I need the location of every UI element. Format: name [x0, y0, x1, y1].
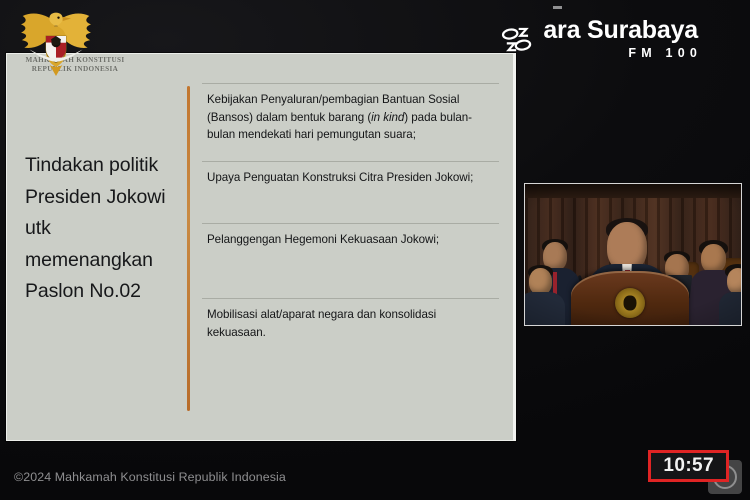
broadcast-frame: MAHKAMAH KONSTITUSI REPUBLIK INDONESIA T… [0, 0, 750, 500]
slide-title: Tindakan politik Presiden Jokowi utk mem… [25, 150, 183, 308]
timer-box: 10:57 [648, 450, 729, 482]
video-scene [525, 184, 741, 325]
suara-surabaya-mark-icon [500, 23, 534, 57]
bullet-list: Kebijakan Penyaluran/pembagian Bantuan S… [201, 83, 499, 341]
courtroom-live-feed[interactable] [524, 183, 742, 326]
presentation-slide: MAHKAMAH KONSTITUSI REPUBLIK INDONESIA T… [6, 53, 516, 441]
accent-vertical-rule [187, 86, 190, 411]
station-logo: ara Surabaya FM 100 [500, 18, 698, 60]
bullet-text-before: Mobilisasi alat/aparat negara dan konsol… [207, 308, 436, 339]
list-item: Pelanggengan Hegemoni Kekuasaan Jokowi; [201, 223, 499, 249]
bullet-emphasis: in kind [371, 111, 404, 124]
bullet-text-mobilisasi-aparat: Mobilisasi alat/aparat negara dan konsol… [201, 299, 499, 341]
station-logo-text: ara Surabaya FM 100 [543, 18, 698, 60]
list-item: Kebijakan Penyaluran/pembagian Bantuan S… [201, 83, 499, 144]
station-subtitle: FM 100 [628, 47, 702, 60]
logo-tick-mark [553, 6, 562, 9]
bullet-text-citra-presiden: Upaya Penguatan Konstruksi Citra Preside… [201, 162, 499, 187]
copyright-notice: ©2024 Mahkamah Konstitusi Republik Indon… [14, 470, 286, 484]
bullet-text-before: Upaya Penguatan Konstruksi Citra Preside… [207, 171, 473, 184]
bullet-text-hegemoni-kekuasaan: Pelanggengan Hegemoni Kekuasaan Jokowi; [201, 224, 499, 249]
timer-value: 10:57 [663, 456, 714, 475]
garuda-pancasila-emblem [14, 6, 98, 76]
station-name: ara Surabaya [543, 18, 698, 43]
vignette [525, 184, 741, 325]
list-item: Mobilisasi alat/aparat negara dan konsol… [201, 298, 499, 341]
list-item: Upaya Penguatan Konstruksi Citra Preside… [201, 161, 499, 187]
bullet-text-before: Pelanggengan Hegemoni Kekuasaan Jokowi; [207, 233, 439, 246]
bullet-text-bansos-in-kind: Kebijakan Penyaluran/pembagian Bantuan S… [201, 84, 499, 144]
